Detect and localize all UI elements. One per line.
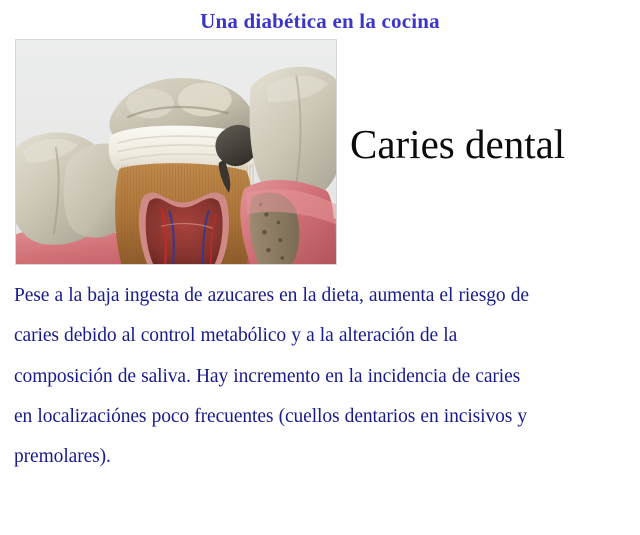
dental-caries-illustration: [15, 39, 337, 265]
hero-section: Caries dental: [0, 32, 640, 262]
body-line-3: composición de saliva. Hay incremento en…: [14, 357, 622, 397]
body-line-2: caries debido al control metabólico y a …: [14, 316, 622, 356]
page-title: Una diabética en la cocina: [0, 0, 640, 32]
article-body: Pese a la baja ingesta de azucares en la…: [0, 262, 640, 478]
body-line-1: Pese a la baja ingesta de azucares en la…: [14, 276, 622, 316]
article-heading: Caries dental: [350, 123, 565, 166]
body-line-5: premolares).: [14, 437, 622, 477]
body-line-4: en localizaciónes poco frecuentes (cuell…: [14, 397, 622, 437]
article-heading-wrap: Caries dental: [350, 32, 640, 258]
